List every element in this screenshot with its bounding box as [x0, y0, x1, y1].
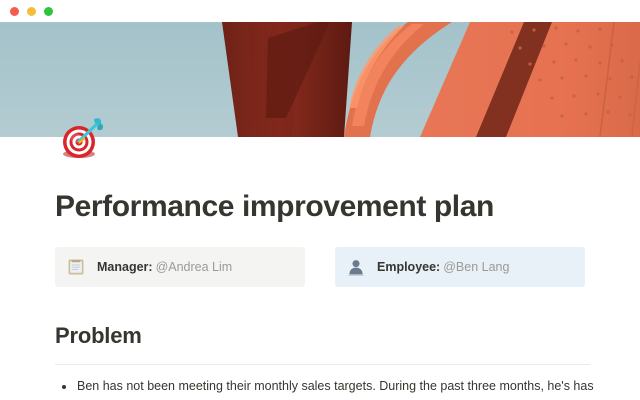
- bullet-list-problem: Ben has not been meeting their monthly s…: [55, 377, 615, 396]
- callout-employee-mention[interactable]: @Ben Lang: [443, 260, 509, 274]
- callout-manager-label: Manager:: [97, 260, 153, 274]
- callout-manager-mention[interactable]: @Andrea Lim: [156, 260, 233, 274]
- window-controls: [10, 7, 53, 16]
- page-icon-target-emoji[interactable]: [58, 113, 106, 161]
- section-divider: [55, 364, 590, 365]
- bust-in-silhouette-icon: [347, 258, 365, 276]
- page-content: Performance improvement plan: [0, 137, 640, 400]
- callout-employee[interactable]: Employee:@Ben Lang: [335, 247, 585, 287]
- callout-manager-text: Manager:@Andrea Lim: [97, 261, 232, 274]
- close-window-button[interactable]: [10, 7, 19, 16]
- maximize-window-button[interactable]: [44, 7, 53, 16]
- document-window: Performance improvement plan: [0, 0, 640, 400]
- direct-hit-icon: [58, 113, 106, 161]
- clipboard-icon: [67, 258, 85, 276]
- callout-manager[interactable]: Manager:@Andrea Lim: [55, 247, 305, 287]
- minimize-window-button[interactable]: [27, 7, 36, 16]
- callout-employee-text: Employee:@Ben Lang: [377, 261, 509, 274]
- list-item[interactable]: Ben has not been meeting their monthly s…: [55, 377, 615, 396]
- window-titlebar: [0, 0, 640, 22]
- page-title[interactable]: Performance improvement plan: [55, 190, 494, 223]
- callout-employee-label: Employee:: [377, 260, 440, 274]
- callout-row: Manager:@Andrea Lim Employee:@Ben Lang: [55, 247, 590, 287]
- section-heading-problem[interactable]: Problem: [55, 324, 142, 348]
